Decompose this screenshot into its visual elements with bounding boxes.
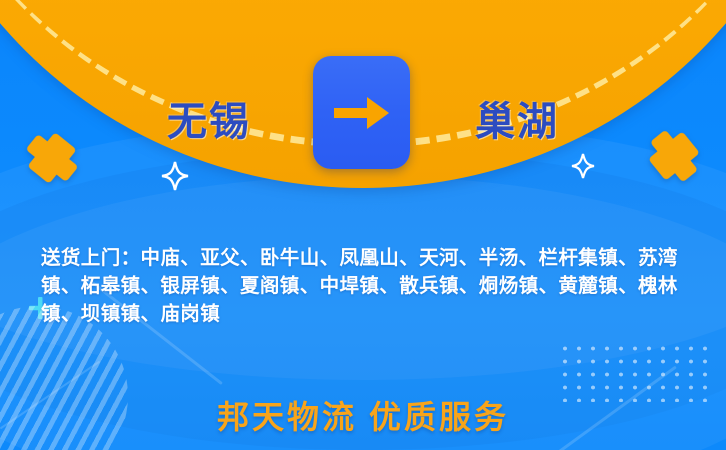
logistics-route-banner: 无锡 巢湖 送 xyxy=(0,0,726,450)
sparkle-icon-right xyxy=(570,152,596,180)
x-cross-icon-left xyxy=(21,127,83,189)
delivery-area-list: 送货上门：中庙、亚父、卧牛山、凤凰山、天河、半汤、栏杆集镇、苏湾镇、柘皋镇、银屏… xyxy=(41,244,697,328)
company-slogan: 邦天物流 优质服务 xyxy=(0,392,726,438)
arrow-right-icon xyxy=(332,92,392,134)
arrow-chip xyxy=(313,56,410,169)
sparkle-icon-left xyxy=(160,160,190,192)
x-cross-icon-right xyxy=(643,125,705,187)
